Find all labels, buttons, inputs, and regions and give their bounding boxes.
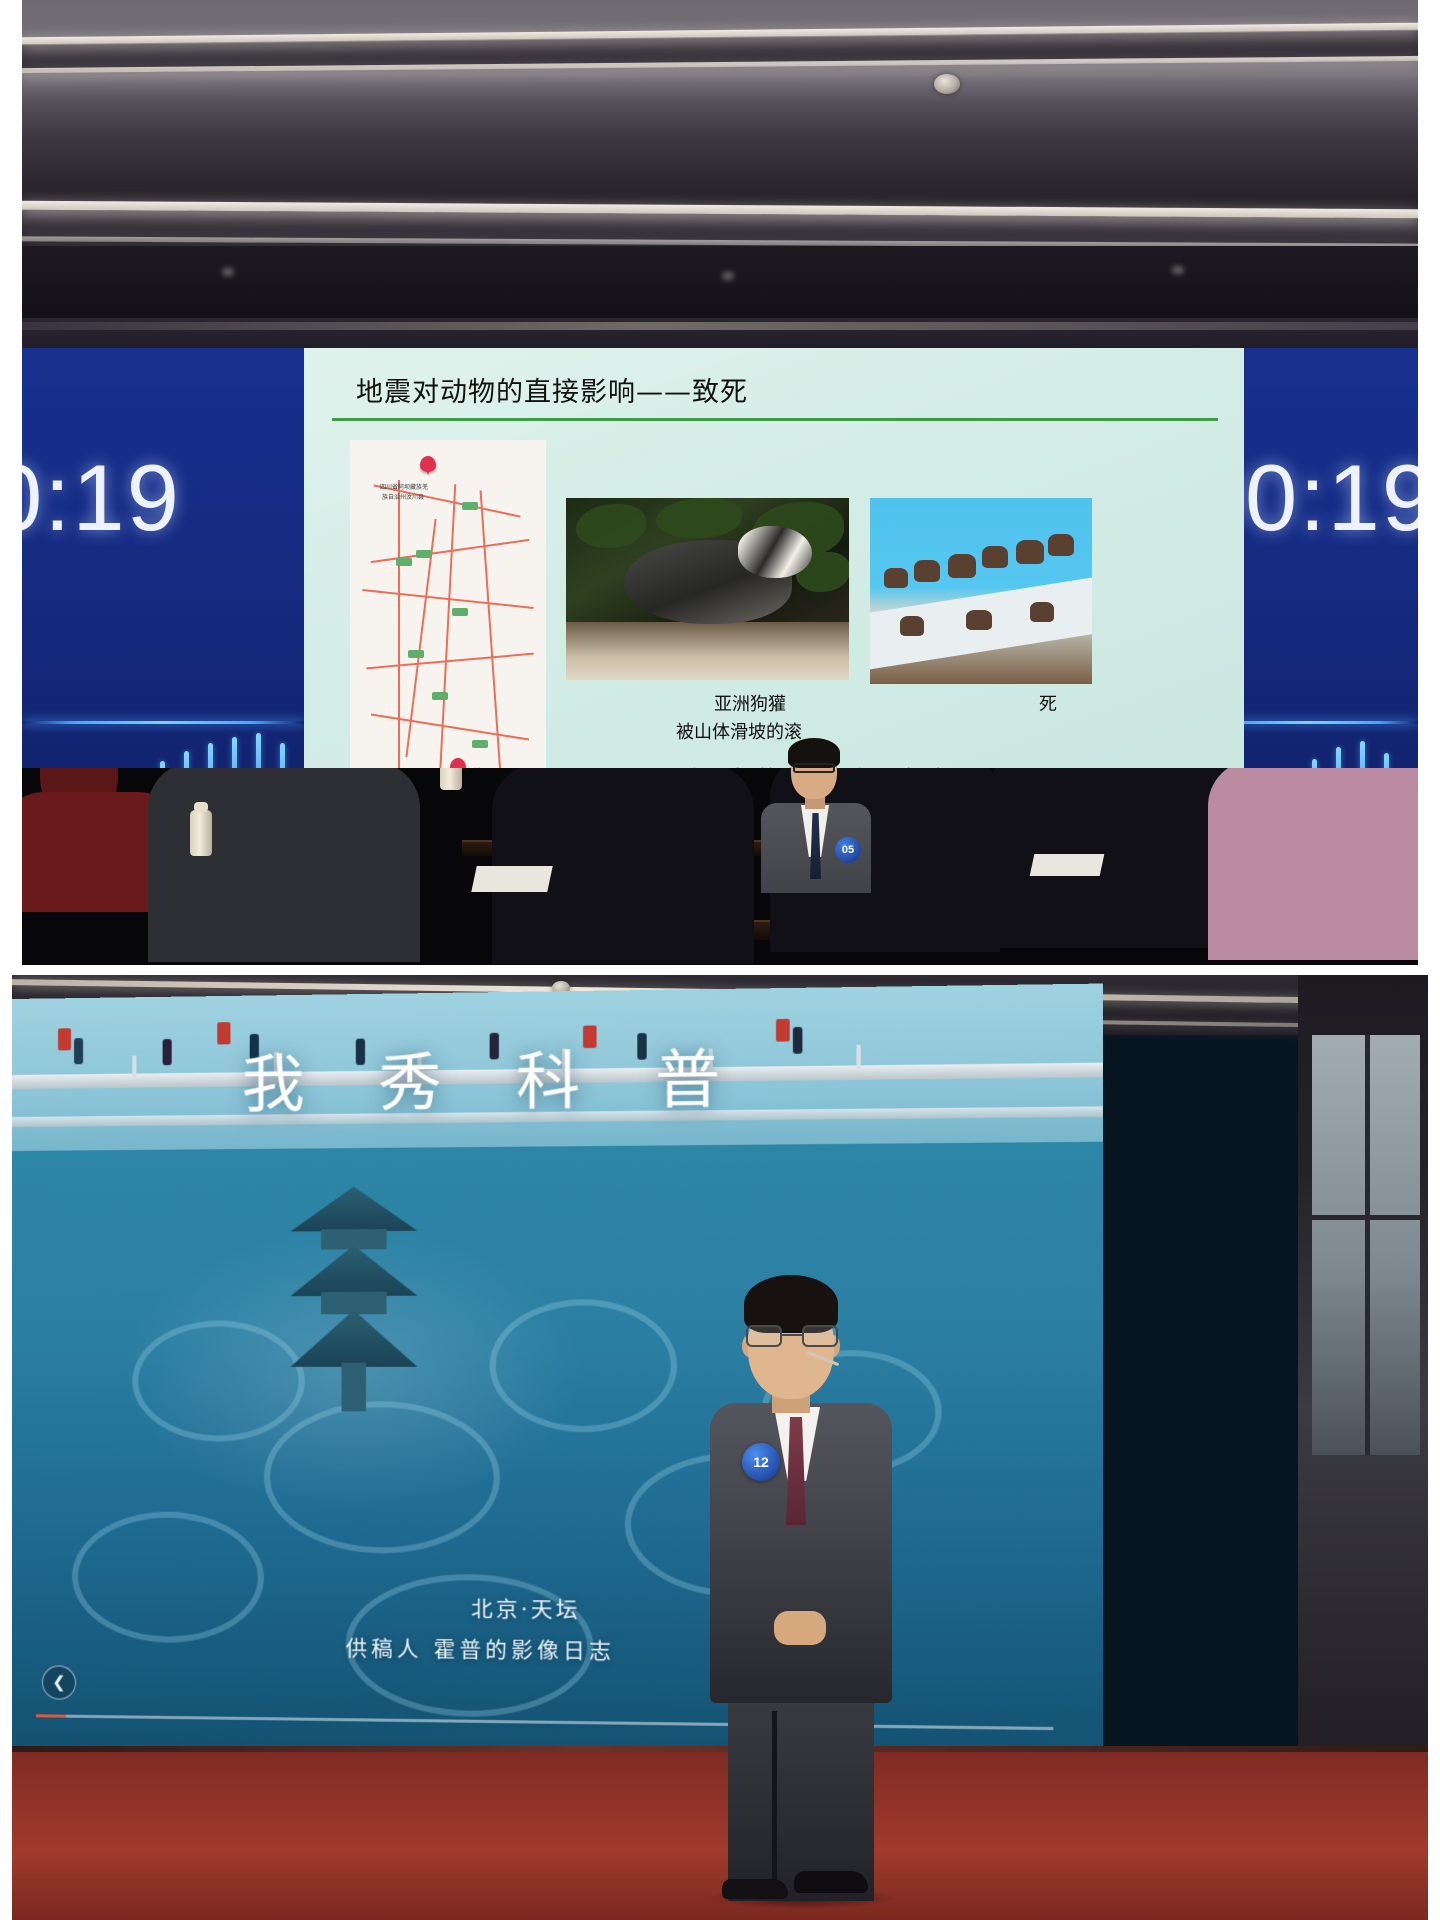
audience-area: [22, 768, 1418, 965]
water-bottle: [440, 768, 462, 790]
presenter-hands: [774, 1611, 826, 1645]
ceiling: [22, 0, 1418, 340]
slide-photo-caption-3: 死: [1039, 690, 1057, 716]
badger-head: [738, 526, 812, 578]
led-wall-bottom: 我 秀 科 普 北京·天坛 供稿人 霍普的影像日志 ➤: [12, 984, 1103, 1775]
photo-top: 0:19: [22, 0, 1418, 965]
slide-title: 地震对动物的直接影响——致死: [356, 370, 748, 409]
presenter-badge-top: 05: [835, 837, 861, 863]
audience-shoulders: [988, 768, 1238, 948]
presenter-badge-bottom: 12: [742, 1443, 780, 1481]
map-caption-line-2: 族自治州汶川县: [382, 492, 424, 501]
wall-light-strip: [22, 322, 1418, 330]
room-right-wall: [1298, 975, 1428, 1765]
ceiling-spotlight: [722, 272, 734, 280]
water-bottle: [190, 810, 212, 856]
screen-caption-credit: 供稿人 霍普的影像日志: [346, 1632, 615, 1665]
screen-caption-location: 北京·天坛: [471, 1593, 581, 1624]
glasses-icon: [746, 1325, 838, 1347]
progress-fill: [36, 1714, 66, 1717]
presenter-leg-split: [772, 1711, 777, 1891]
photo-bottom: 我 秀 科 普 北京·天坛 供稿人 霍普的影像日志 ➤: [12, 975, 1428, 1920]
paper-document: [471, 866, 553, 892]
prev-slide-button[interactable]: ❮: [42, 1665, 76, 1699]
countdown-timer-left: 0:19: [22, 444, 181, 552]
slide-image-herd: [870, 498, 1092, 684]
slide-photo-caption-1: 亚洲狗獾: [714, 690, 786, 716]
map-caption-line-1: 四川省阿坝藏族羌: [380, 482, 428, 491]
presenter-top: 05: [757, 743, 875, 893]
screen-title: 我 秀 科 普: [242, 1028, 748, 1125]
paper-document: [1030, 854, 1105, 876]
presenter-shoe-left: [722, 1879, 788, 1899]
presenter-bottom: 12: [702, 1275, 898, 1900]
audience-shoulders: [1208, 768, 1418, 960]
slide-image-badger: [566, 498, 849, 680]
presenter-shoe-right: [794, 1871, 868, 1893]
audience-shoulders: [148, 768, 420, 962]
badger-ground: [566, 622, 849, 680]
temple-reflection: [282, 1186, 425, 1399]
glasses-icon: [793, 763, 835, 773]
smoke-detector-icon: [934, 74, 960, 94]
map-pin-epicenter: [420, 456, 436, 472]
slide-photo-caption-2: 被山体滑坡的滚: [676, 718, 802, 744]
ceiling-spotlight: [1172, 266, 1184, 274]
slide-title-underline: [332, 418, 1218, 421]
ceiling-spotlight: [222, 268, 234, 276]
screen-water-background: [12, 1142, 1103, 1775]
photo-collage-page: 0:19: [0, 0, 1440, 1920]
